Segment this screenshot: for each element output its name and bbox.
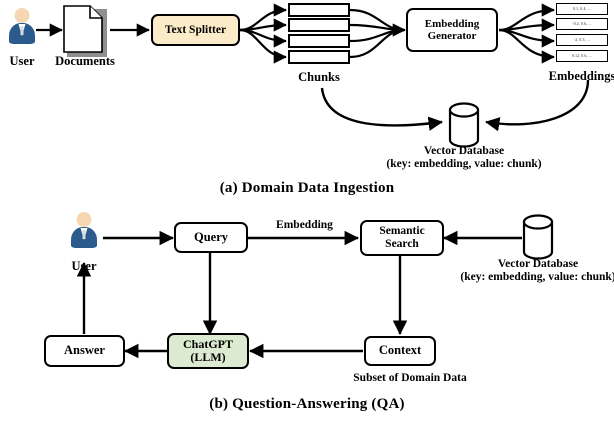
vector-database-cylinder-b	[524, 216, 552, 259]
semantic-search-box: Semantic Search	[360, 220, 444, 256]
vector-database-cylinder-a	[450, 104, 478, 147]
arrow-splitter-to-chunk-1	[240, 10, 286, 30]
query-label: Query	[194, 231, 228, 245]
answer-label: Answer	[64, 344, 105, 358]
figure-root: User Documents Text Splitter Chunks Embe…	[0, 0, 614, 422]
semantic-search-label-line1: Semantic	[379, 225, 424, 238]
chatgpt-label-line2: (LLM)	[190, 351, 225, 364]
user-head-icon	[15, 8, 30, 23]
arrow-generator-to-embedding-1	[499, 10, 554, 30]
document-page-icon	[63, 5, 103, 53]
chatgpt-box: ChatGPT (LLM)	[167, 333, 249, 369]
embedding-value-1: 0.1, 0.4, ...	[573, 7, 591, 11]
user-tie-icon	[21, 26, 24, 35]
embedding-generator-box: Embedding Generator	[406, 8, 498, 52]
embedding-box-1: 0.1, 0.4, ...	[556, 3, 608, 15]
user-icon-a	[8, 8, 36, 44]
arrow-generator-to-embedding-4	[499, 30, 554, 57]
arrow-generator-to-embedding-3	[499, 30, 554, 41]
text-splitter-box: Text Splitter	[151, 14, 240, 46]
label-vector-database-a-line1: Vector Database	[364, 145, 564, 159]
label-user-b: User	[59, 259, 109, 274]
caption-panel-a: (a) Domain Data Ingestion	[0, 180, 614, 197]
embedding-value-2: -0.2, 0.6, ...	[572, 22, 591, 26]
label-embeddings: Embeddings	[536, 69, 614, 84]
embedding-box-3: -2, 0.5, ...	[556, 34, 608, 46]
answer-box: Answer	[44, 335, 125, 367]
embedding-box-4: 0.12, 0.6, ...	[556, 50, 608, 62]
arrow-chunk-2-to-generator	[350, 25, 404, 30]
embedding-value-4: 0.12, 0.6, ...	[572, 54, 592, 58]
arrow-chunk-1-to-generator	[350, 10, 404, 30]
context-box: Context	[364, 336, 436, 366]
label-edge-embedding: Embedding	[252, 219, 357, 233]
arrow-generator-to-embedding-2	[499, 25, 554, 30]
arrow-chunk-3-to-generator	[350, 30, 404, 41]
user-tie-icon-b	[83, 230, 86, 239]
label-vector-database-b-line1: Vector Database	[438, 258, 614, 272]
context-label: Context	[379, 344, 421, 358]
text-splitter-label: Text Splitter	[165, 24, 226, 37]
label-user-a: User	[0, 54, 44, 69]
label-vector-database-a-line2: (key: embedding, value: chunk)	[364, 158, 564, 172]
chunk-box-3	[288, 34, 350, 48]
user-head-icon-b	[77, 212, 92, 227]
embedding-box-2: -0.2, 0.6, ...	[556, 18, 608, 30]
arrow-splitter-to-chunk-4	[240, 30, 286, 57]
documents-icon	[63, 5, 103, 53]
embedding-generator-label-line1: Embedding	[425, 18, 479, 30]
label-chunks: Chunks	[284, 70, 354, 85]
chunk-box-4	[288, 50, 350, 64]
embedding-value-3: -2, 0.5, ...	[574, 38, 590, 42]
label-subset-of-domain-data: Subset of Domain Data	[330, 372, 490, 386]
embedding-generator-label-line2: Generator	[428, 30, 477, 42]
label-vector-database-b-line2: (key: embedding, value: chunk)	[438, 271, 614, 285]
label-documents: Documents	[40, 54, 130, 69]
arrow-splitter-to-chunk-2	[240, 25, 286, 30]
chunk-box-1	[288, 3, 350, 17]
query-box: Query	[174, 222, 248, 253]
caption-panel-b: (b) Question-Answering (QA)	[0, 396, 614, 413]
user-icon-b	[70, 212, 98, 248]
arrow-embeddings-to-vector-db	[486, 80, 588, 124]
arrow-chunk-4-to-generator	[350, 30, 404, 57]
semantic-search-label-line2: Search	[385, 238, 419, 251]
chunk-box-2	[288, 18, 350, 32]
arrow-chunks-to-vector-db	[322, 88, 442, 125]
arrow-splitter-to-chunk-3	[240, 30, 286, 41]
